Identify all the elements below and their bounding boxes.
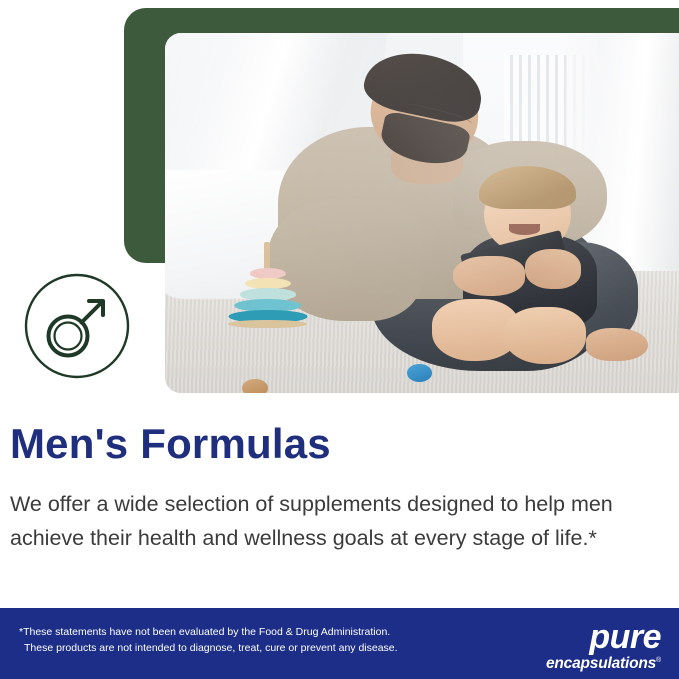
brand-logo-primary: pure	[511, 622, 661, 652]
footer-disclaimer: *These statements have not been evaluate…	[19, 625, 449, 656]
disclaimer-line-2: These products are not intended to diagn…	[19, 641, 449, 657]
photo-father-foot	[586, 328, 648, 360]
photo-wooden-ball	[242, 379, 268, 393]
photo-toddler-smile	[509, 224, 540, 235]
photo-father-hand-left	[453, 256, 525, 296]
toy-base	[228, 320, 307, 329]
brand-logo[interactable]: pure encapsulations®	[511, 622, 661, 668]
hero-photo	[165, 33, 679, 393]
photo-toddler-leg-right	[504, 307, 586, 365]
photo-father-hand-right	[525, 249, 582, 289]
page-description: We offer a wide selection of supplements…	[10, 487, 658, 555]
brand-logo-secondary-text: encapsulations	[546, 655, 656, 672]
photo-scene	[165, 33, 679, 393]
male-symbol-icon	[23, 272, 131, 380]
footer-bar: *These statements have not been evaluate…	[0, 608, 679, 679]
page-title: Men's Formulas	[10, 420, 650, 468]
registered-mark-icon: ®	[656, 657, 661, 664]
photo-stacking-ring-toy	[227, 242, 309, 328]
brand-logo-secondary: encapsulations®	[511, 652, 661, 672]
disclaimer-line-1: *These statements have not been evaluate…	[19, 626, 390, 638]
